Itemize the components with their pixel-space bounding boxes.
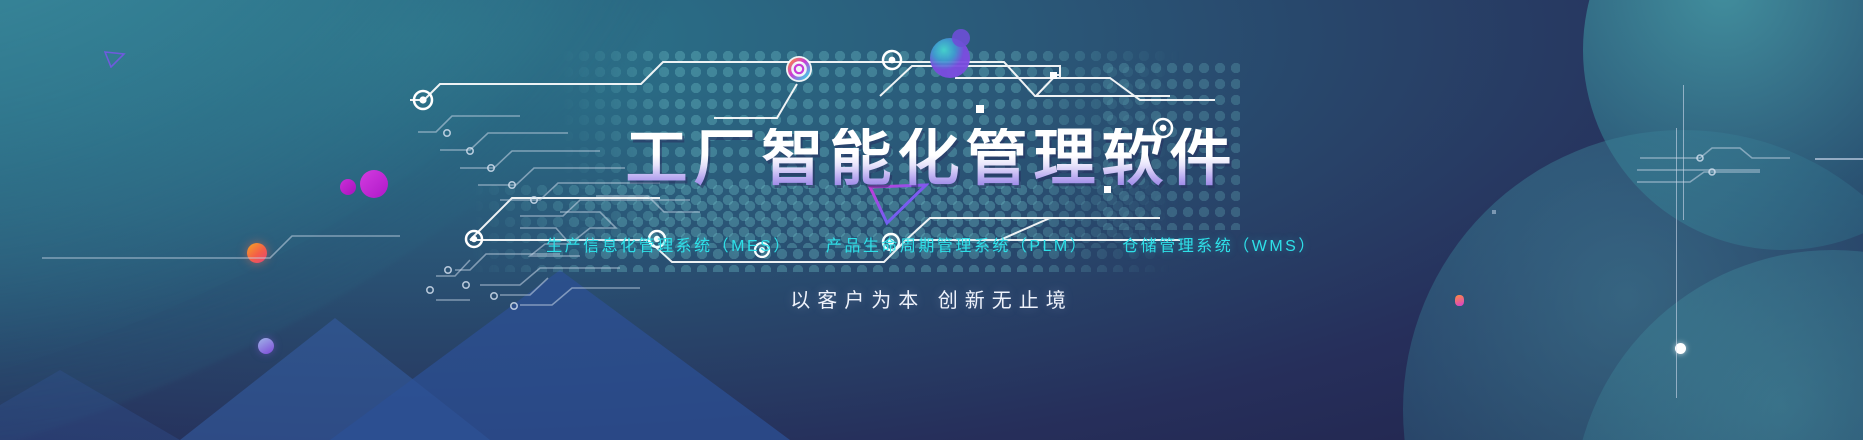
banner-title: 工厂智能化管理软件	[625, 128, 1237, 190]
subtitle-item-wms: 仓储管理系统（WMS）	[1122, 232, 1317, 256]
banner-content: 工厂智能化管理软件 生产信息化管理系统（MES） 产品生命周期管理系统（PLM）…	[0, 0, 1863, 440]
banner-tagline: 以客户为本 创新无止境	[790, 284, 1073, 313]
subtitle-item-mes: 生产信息化管理系统（MES）	[546, 232, 792, 256]
banner-subtitle-row: 生产信息化管理系统（MES） 产品生命周期管理系统（PLM） 仓储管理系统（WM…	[546, 232, 1317, 256]
subtitle-item-plm: 产品生命周期管理系统（PLM）	[826, 232, 1088, 256]
hero-banner: 工厂智能化管理软件 生产信息化管理系统（MES） 产品生命周期管理系统（PLM）…	[0, 0, 1863, 440]
